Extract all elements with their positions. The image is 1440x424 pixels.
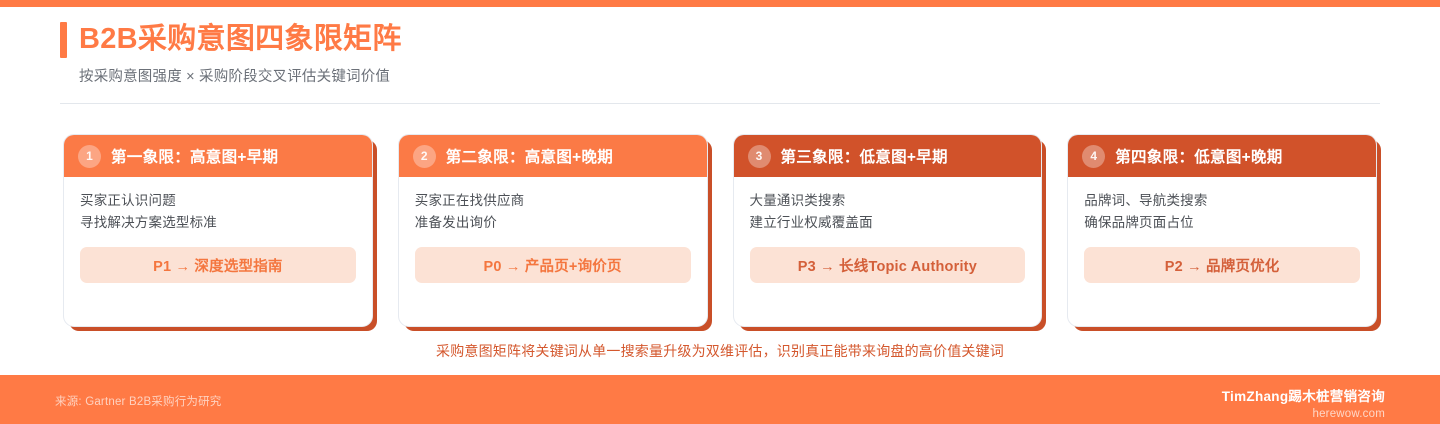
quadrant-card-header: 1第一象限：高意图+早期 [64, 135, 372, 177]
quadrant-card[interactable]: 1第一象限：高意图+早期买家正认识问题寻找解决方案选型标准P1 → 深度选型指南 [63, 134, 373, 327]
quadrant-number-badge: 2 [413, 145, 436, 168]
priority-badge[interactable]: P2 → 品牌页优化 [1084, 247, 1360, 283]
summary-caption: 采购意图矩阵将关键词从单一搜索量升级为双维评估，识别真正能带来询盘的高价值关键词 [0, 341, 1440, 361]
header-divider [60, 103, 1380, 104]
quadrant-description-line: 买家正在找供应商 [415, 190, 691, 212]
quadrant-number-badge: 3 [748, 145, 771, 168]
quadrant-card-header: 3第三象限：低意图+早期 [734, 135, 1042, 177]
title-accent-bar [60, 22, 67, 58]
footer-brand: TimZhang踢木桩营销咨询 herewow.com [1222, 385, 1385, 420]
quadrant-number-badge: 1 [78, 145, 101, 168]
quadrant-number-badge: 4 [1082, 145, 1105, 168]
quadrant-card-header: 2第二象限：高意图+晚期 [399, 135, 707, 177]
quadrant-card[interactable]: 3第三象限：低意图+早期大量通识类搜索建立行业权威覆盖面P3 → 长线Topic… [733, 134, 1043, 327]
quadrant-card-list: 1第一象限：高意图+早期买家正认识问题寻找解决方案选型标准P1 → 深度选型指南… [63, 134, 1377, 327]
quadrant-card-title: 第三象限：低意图+早期 [781, 145, 948, 167]
quadrant-description-line: 确保品牌页面占位 [1084, 212, 1360, 234]
quadrant-description-line: 建立行业权威覆盖面 [750, 212, 1026, 234]
page-footer: 来源: Gartner B2B采购行为研究 TimZhang踢木桩营销咨询 he… [0, 375, 1440, 424]
page-title: B2B采购意图四象限矩阵 [79, 24, 402, 56]
quadrant-card-title: 第一象限：高意图+早期 [111, 145, 278, 167]
quadrant-card[interactable]: 2第二象限：高意图+晚期买家正在找供应商准备发出询价P0 → 产品页+询价页 [398, 134, 708, 327]
page-header: B2B采购意图四象限矩阵 按采购意图强度 × 采购阶段交叉评估关键词价值 [60, 22, 1380, 94]
quadrant-description-line: 准备发出询价 [415, 212, 691, 234]
priority-badge[interactable]: P0 → 产品页+询价页 [415, 247, 691, 283]
quadrant-card[interactable]: 4第四象限：低意图+晚期品牌词、导航类搜索确保品牌页面占位P2 → 品牌页优化 [1067, 134, 1377, 327]
quadrant-description-line: 寻找解决方案选型标准 [80, 212, 356, 234]
quadrant-card-body: 大量通识类搜索建立行业权威覆盖面P3 → 长线Topic Authority [734, 177, 1042, 283]
quadrant-description-line: 大量通识类搜索 [750, 190, 1026, 212]
quadrant-card-body: 买家正认识问题寻找解决方案选型标准P1 → 深度选型指南 [64, 177, 372, 283]
quadrant-description-line: 买家正认识问题 [80, 190, 356, 212]
priority-badge[interactable]: P3 → 长线Topic Authority [750, 247, 1026, 283]
quadrant-card-header: 4第四象限：低意图+晚期 [1068, 135, 1376, 177]
quadrant-card-body: 买家正在找供应商准备发出询价P0 → 产品页+询价页 [399, 177, 707, 283]
footer-brand-name: TimZhang踢木桩营销咨询 [1222, 385, 1385, 405]
footer-brand-site: herewow.com [1222, 408, 1385, 420]
priority-badge[interactable]: P1 → 深度选型指南 [80, 247, 356, 283]
quadrant-card-body: 品牌词、导航类搜索确保品牌页面占位P2 → 品牌页优化 [1068, 177, 1376, 283]
quadrant-description-line: 品牌词、导航类搜索 [1084, 190, 1360, 212]
footer-source-text: 来源: Gartner B2B采购行为研究 [55, 393, 222, 409]
quadrant-card-title: 第四象限：低意图+晚期 [1115, 145, 1282, 167]
quadrant-card-title: 第二象限：高意图+晚期 [446, 145, 613, 167]
top-accent-strip [0, 0, 1440, 7]
title-row: B2B采购意图四象限矩阵 [60, 22, 1380, 58]
page-subtitle: 按采购意图强度 × 采购阶段交叉评估关键词价值 [79, 65, 1380, 86]
